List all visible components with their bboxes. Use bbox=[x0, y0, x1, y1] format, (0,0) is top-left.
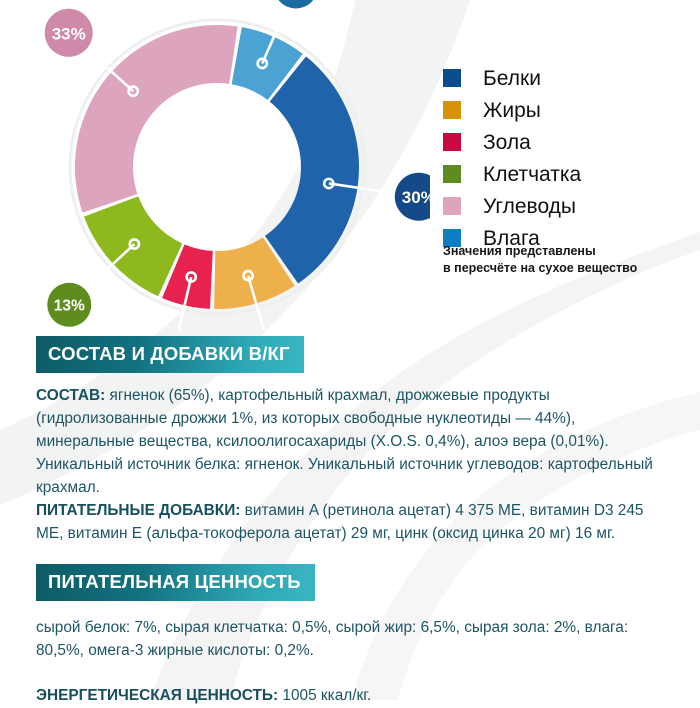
paragraph-label-sostav: СОСТАВ: bbox=[36, 387, 105, 404]
callout-bubble bbox=[274, 0, 318, 8]
callout-value-label: 13% bbox=[54, 297, 85, 314]
legend-note: Значения представлены в пересчёте на сух… bbox=[443, 243, 683, 277]
legend-swatch-zhiry bbox=[443, 101, 461, 119]
legend-swatch-belki bbox=[443, 69, 461, 87]
paragraph-composition: СОСТАВ: ягненок (65%), картофельный крах… bbox=[36, 385, 664, 500]
legend-label-uglevody: Углеводы bbox=[483, 196, 576, 217]
legend-item-0: Белки bbox=[443, 62, 693, 94]
paragraph-additives: ПИТАТЕЛЬНЫЕ ДОБАВКИ: витамин A (ретинола… bbox=[36, 500, 664, 546]
legend-item-1: Жиры bbox=[443, 94, 693, 126]
paragraph-label-energy: ЭНЕРГЕТИЧЕСКАЯ ЦЕННОСТЬ: bbox=[36, 687, 278, 704]
legend-label-kletchatka: Клетчатка bbox=[483, 164, 581, 185]
section-header-nutrition: ПИТАТЕЛЬНАЯ ЦЕННОСТЬ bbox=[36, 564, 315, 601]
chart-legend: Белки Жиры Зола Клетчатка Углеводы Влага bbox=[443, 62, 693, 254]
legend-swatch-uglevody bbox=[443, 197, 461, 215]
donut-svg: 30%10%6%13%33%8% bbox=[0, 0, 430, 330]
paragraph-text-nutrition: сырой белок: 7%, сырая клетчатка: 0,5%, … bbox=[36, 619, 628, 659]
legend-swatch-zola bbox=[443, 133, 461, 151]
paragraph-nutrition-values: сырой белок: 7%, сырая клетчатка: 0,5%, … bbox=[36, 617, 664, 663]
callout-value-label: 33% bbox=[52, 24, 86, 43]
callout-value-label: 30% bbox=[402, 188, 430, 207]
paragraph-text-sostav: ягненок (65%), картофельный крахмал, дро… bbox=[36, 387, 653, 496]
legend-note-line-1: Значения представлены bbox=[443, 243, 683, 260]
nutrition-donut-chart: 30%10%6%13%33%8% bbox=[0, 0, 430, 330]
donut-slice-углеводы bbox=[75, 25, 238, 213]
legend-item-4: Углеводы bbox=[443, 190, 693, 222]
legend-swatch-kletchatka bbox=[443, 165, 461, 183]
section-header-composition: СОСТАВ И ДОБАВКИ В/КГ bbox=[36, 336, 304, 373]
legend-note-line-2: в пересчёте на сухое вещество bbox=[443, 260, 683, 277]
paragraph-label-additives: ПИТАТЕЛЬНЫЕ ДОБАВКИ: bbox=[36, 502, 240, 519]
legend-label-belki: Белки bbox=[483, 68, 541, 89]
donut-slices bbox=[75, 25, 359, 309]
donut-slice-белки bbox=[265, 56, 359, 283]
product-info-content: СОСТАВ И ДОБАВКИ В/КГ СОСТАВ: ягненок (6… bbox=[0, 336, 700, 708]
legend-label-zola: Зола bbox=[483, 132, 531, 153]
legend-item-3: Клетчатка bbox=[443, 158, 693, 190]
legend-label-zhiry: Жиры bbox=[483, 100, 541, 121]
paragraph-energy: ЭНЕРГЕТИЧЕСКАЯ ЦЕННОСТЬ: 1005 ккал/кг. bbox=[36, 685, 664, 708]
paragraph-text-energy: 1005 ккал/кг. bbox=[278, 687, 371, 704]
legend-item-2: Зола bbox=[443, 126, 693, 158]
